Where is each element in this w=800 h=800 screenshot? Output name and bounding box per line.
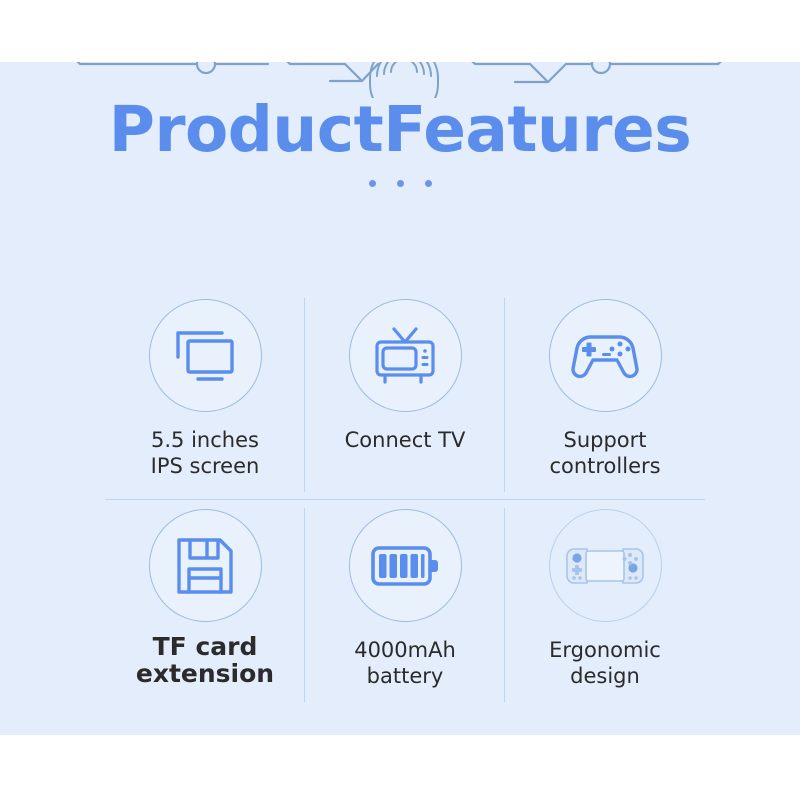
- header-block: ProductFeatures: [0, 97, 800, 187]
- monitor-screen-icon: [172, 327, 238, 385]
- dot-2: [397, 180, 404, 187]
- television-icon: [372, 325, 438, 387]
- floppy-disk-icon: [175, 536, 235, 596]
- dot-3: [425, 180, 432, 187]
- feature-cell-ips-screen[interactable]: 5.5 inches IPS screen: [105, 290, 305, 500]
- feature-label-battery: 4000mAh battery: [354, 638, 456, 689]
- feature-label-support-controllers: Support controllers: [549, 428, 660, 479]
- product-features-page: ProductFeatures: [0, 0, 800, 800]
- icon-circle-battery: [349, 509, 462, 622]
- icon-circle-support-controllers: [549, 299, 662, 412]
- title-dots-ornament: [0, 180, 800, 187]
- icon-circle-tf-card: [149, 509, 262, 622]
- page-title: ProductFeatures: [0, 97, 800, 164]
- feature-label-ergonomic-design: Ergonomic design: [549, 638, 661, 689]
- feature-cell-support-controllers[interactable]: Support controllers: [505, 290, 705, 500]
- icon-circle-ergonomic-design: [549, 509, 662, 622]
- feature-label-ips-screen: 5.5 inches IPS screen: [151, 428, 260, 479]
- gamepad-icon: [570, 331, 640, 381]
- features-panel: ProductFeatures: [0, 62, 800, 735]
- feature-cell-battery[interactable]: 4000mAh battery: [305, 500, 505, 710]
- icon-circle-ips-screen: [149, 299, 262, 412]
- handheld-console-icon: [563, 544, 647, 588]
- dot-1: [369, 180, 376, 187]
- feature-grid: 5.5 inches IPS screen: [105, 290, 705, 710]
- feature-cell-ergonomic-design[interactable]: Ergonomic design: [505, 500, 705, 710]
- battery-full-icon: [370, 544, 440, 588]
- icon-circle-connect-tv: [349, 299, 462, 412]
- feature-cell-connect-tv[interactable]: Connect TV: [305, 290, 505, 500]
- feature-cell-tf-card[interactable]: TF card extension: [105, 500, 305, 710]
- feature-label-tf-card: TF card extension: [136, 634, 274, 687]
- feature-label-connect-tv: Connect TV: [345, 428, 466, 454]
